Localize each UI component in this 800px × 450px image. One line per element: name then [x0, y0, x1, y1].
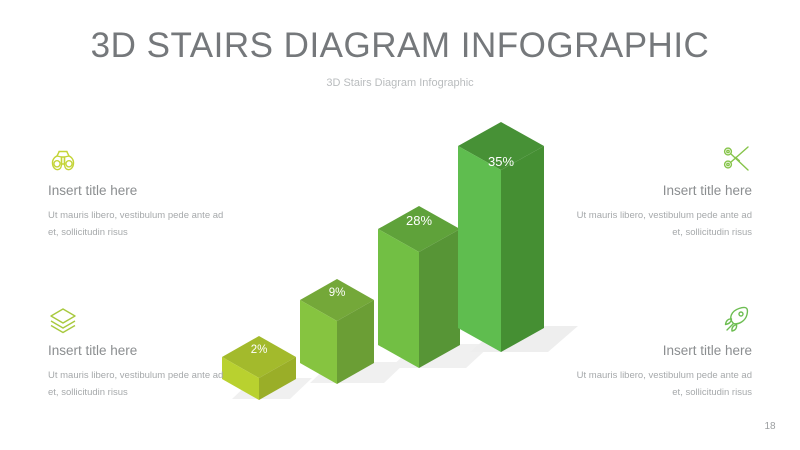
block-title: Insert title here — [572, 183, 752, 199]
block-title: Insert title here — [48, 343, 228, 359]
info-block-top-left: Insert title here Ut mauris libero, vest… — [48, 140, 228, 241]
block-description: Ut mauris libero, vestibulum pede ante a… — [48, 208, 228, 241]
page-title: 3D STAIRS DIAGRAM INFOGRAPHIC — [0, 26, 800, 66]
block-description: Ut mauris libero, vestibulum pede ante a… — [572, 208, 752, 241]
bar-step-2: 9% — [300, 279, 374, 384]
layers-icon — [48, 300, 228, 334]
block-description: Ut mauris libero, vestibulum pede ante a… — [48, 368, 228, 401]
slide-canvas: 3D STAIRS DIAGRAM INFOGRAPHIC 3D Stairs … — [0, 0, 800, 450]
page-number: 18 — [758, 416, 782, 436]
page-subtitle: 3D Stairs Diagram Infographic — [0, 77, 800, 89]
bar-step-3: 28% — [378, 206, 460, 368]
bar-label-4: 35% — [488, 154, 514, 169]
block-title: Insert title here — [572, 343, 752, 359]
info-block-bottom-left: Insert title here Ut mauris libero, vest… — [48, 300, 228, 401]
block-title: Insert title here — [48, 183, 228, 199]
info-block-bottom-right: Insert title here Ut mauris libero, vest… — [572, 300, 752, 401]
bar-shadows — [232, 326, 578, 399]
bar-label-2: 9% — [329, 287, 346, 299]
binoculars-icon — [48, 140, 228, 174]
info-block-top-right: Insert title here Ut mauris libero, vest… — [572, 140, 752, 241]
scissors-icon — [572, 140, 752, 174]
block-description: Ut mauris libero, vestibulum pede ante a… — [572, 368, 752, 401]
bar-label-1: 2% — [251, 344, 268, 356]
bar-label-3: 28% — [406, 213, 432, 228]
bar-step-4: 35% — [458, 122, 544, 352]
bar-step-1: 2% — [222, 336, 296, 400]
rocket-icon — [572, 300, 752, 334]
